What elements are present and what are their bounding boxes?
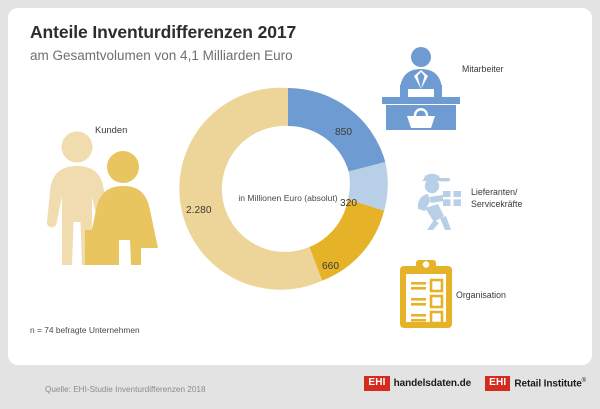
donut-center-label: in Millionen Euro (absolut) [230, 193, 346, 203]
donut-chart [187, 88, 389, 290]
donut-slice-organisation [309, 199, 384, 280]
source-note: Quelle: EHI-Studie Inventurdifferenzen 2… [45, 385, 206, 394]
slice-value-organisation: 660 [322, 261, 339, 272]
registered-mark: ® [582, 378, 586, 384]
slice-value-kunden: 2.280 [186, 205, 212, 216]
sample-size-note: n = 74 befragte Unternehmen [30, 325, 140, 335]
kunden-icon [45, 130, 170, 265]
kunden-label: Kunden [95, 124, 127, 137]
ehi-mark-icon: EHI [485, 376, 510, 391]
lieferanten-icon [412, 168, 468, 230]
page-title: Anteile Inventurdifferenzen 2017 [30, 22, 296, 43]
package-box-icon [443, 191, 461, 206]
organisation-icon [398, 258, 454, 330]
lieferanten-label: Lieferanten/ Servicekräfte [471, 187, 522, 211]
infographic-root: Anteile Inventurdifferenzen 2017 am Gesa… [0, 0, 600, 409]
kunden-shopping-bag [85, 224, 119, 265]
logo-group: EHI handelsdaten.de EHI Retail Institute… [364, 376, 586, 391]
slice-value-lieferanten: 320 [340, 198, 357, 209]
logo-handelsdaten[interactable]: EHI handelsdaten.de [364, 376, 471, 391]
ehi-mark-icon: EHI [364, 376, 389, 391]
mitarbeiter-icon [382, 45, 460, 123]
organisation-label: Organisation [456, 290, 506, 302]
mitarbeiter-label: Mitarbeiter [462, 64, 504, 76]
page-subtitle: am Gesamtvolumen von 4,1 Milliarden Euro [30, 48, 293, 63]
logo-retail-institute[interactable]: EHI Retail Institute® [485, 376, 586, 391]
logo-retail-institute-text: Retail Institute® [514, 378, 586, 389]
slice-value-mitarbeiter: 850 [335, 127, 352, 138]
logo-handelsdaten-text: handelsdaten.de [394, 378, 471, 389]
